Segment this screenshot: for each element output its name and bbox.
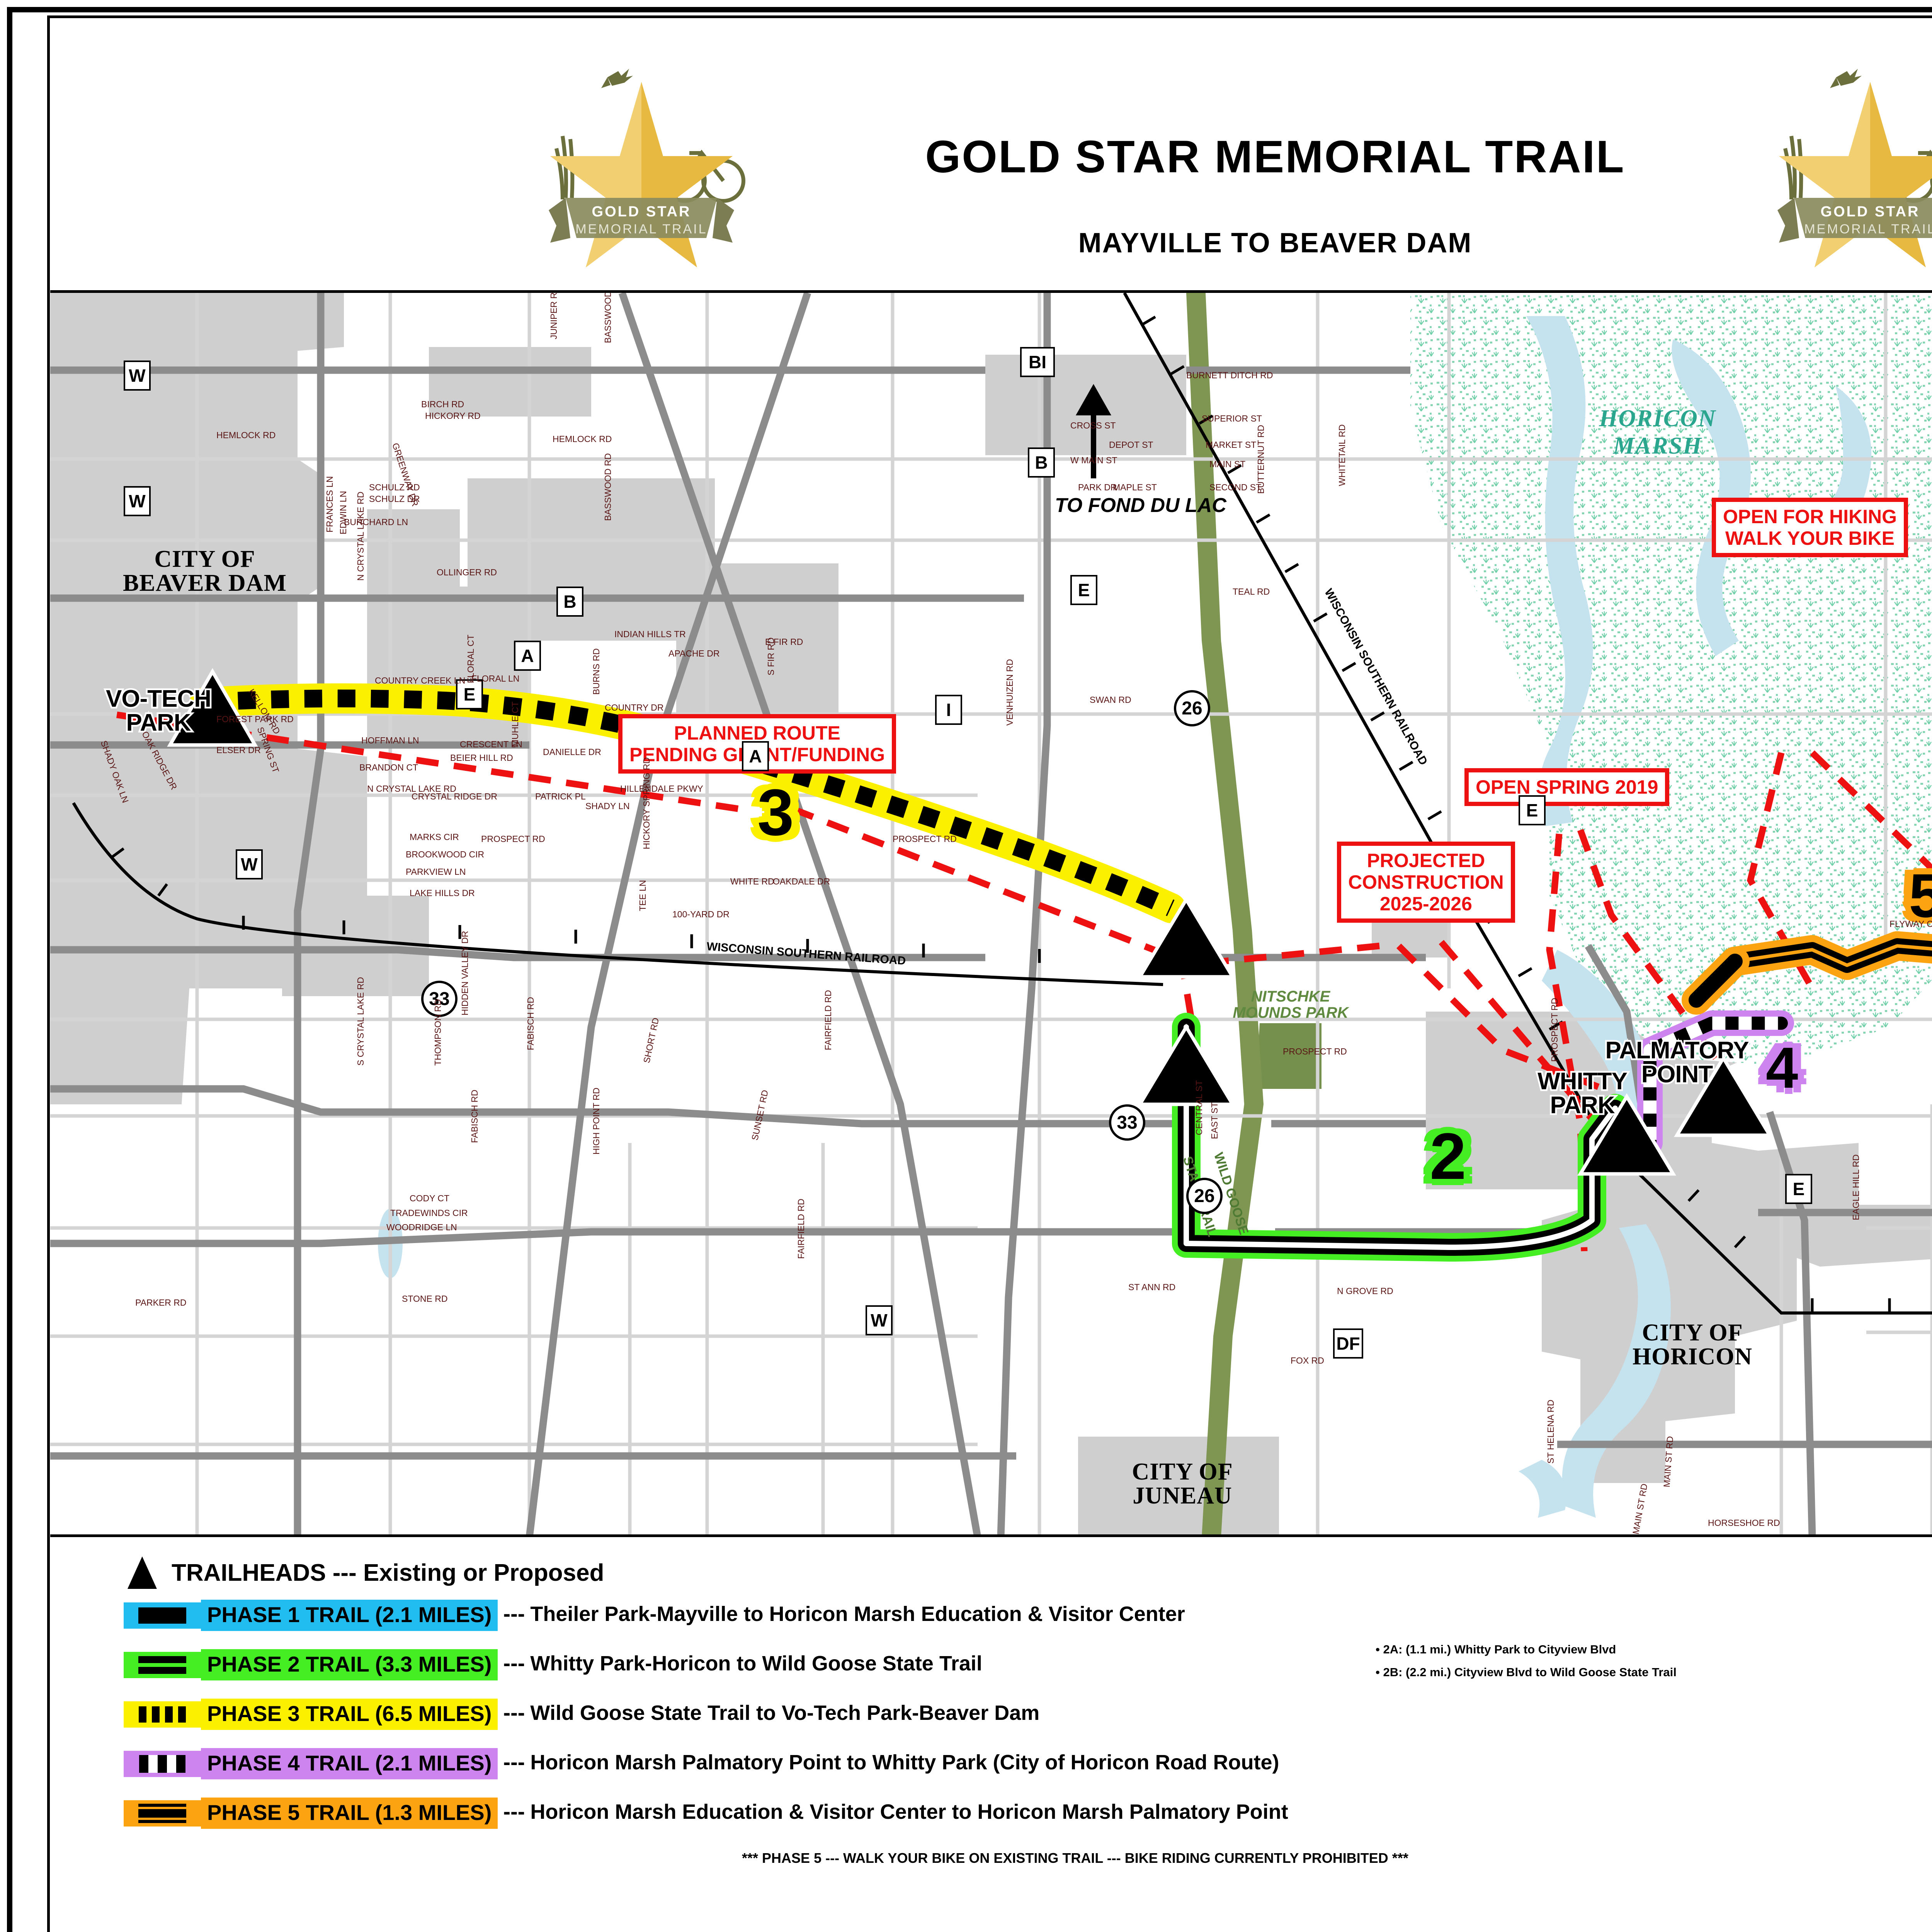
legend-dash-3: --- [498,1700,530,1729]
legend-dash-1: --- [498,1601,530,1630]
road-label-hemlock-rd-west: HEMLOCK RD [216,430,276,440]
county-shield-w-2: W [124,486,151,516]
road-label-hoffman-ln: HOFFMAN LN [361,735,419,746]
county-shield-i: I [935,695,962,725]
road-label-patrick-pl: PATRICK PL [535,791,586,802]
road-label-maple-st: MAPLE ST [1113,482,1157,493]
legend-chip-phase-4: PHASE 4 TRAIL (2.1 MILES) [201,1748,498,1779]
legend-chip-phase-3: PHASE 3 TRAIL (6.5 MILES) [201,1699,498,1730]
road-label-depot-st: DEPOT ST [1109,440,1153,450]
legend-swatch-phase-2 [124,1652,201,1678]
road-label-birch-rd: BIRCH RD [421,399,464,410]
road-label-edwin-ln: EDWIN LN [338,491,349,534]
svg-text:GOLD STAR: GOLD STAR [1821,204,1920,220]
legend-desc-phase-1: Theiler Park-Mayville to Horicon Marsh E… [530,1602,1185,1629]
road-label-s-fir-rd: S FIR RD [766,638,776,675]
road-label-schulz-dr: SCHULZ DR [369,494,420,504]
county-shield-e-3: E [1519,795,1546,825]
road-label-prospect-rd-2: PROSPECT RD [893,834,957,844]
legend-swatch-phase-1 [124,1602,201,1629]
page-title: GOLD STAR MEMORIAL TRAIL [50,131,1932,183]
road-label-hillendale-pkwy: HILLENDALE PKWY [620,784,703,794]
highway-shield-26-north: 26 [1174,690,1210,726]
road-label-fabisch-rd-1: FABISCH RD [526,997,536,1050]
legend-chip-phase-2: PHASE 2 TRAIL (3.3 MILES) [201,1649,498,1680]
road-label-fox-rd: FOX RD [1291,1355,1324,1366]
city-polygon-juneau [1078,1437,1279,1537]
road-label-burnett-ditch-rd: BURNETT DITCH RD [1186,370,1273,381]
map-header: GOLD STAR MEMORIAL TRAIL MAYVILLE TO BEA… [50,19,1932,293]
road-label-fabisch-rd-2: FABISCH RD [469,1090,480,1143]
legend-swatch-phase-4 [124,1751,201,1777]
road-label-burns-rd: BURNS RD [591,648,602,695]
phase-number-4: 4 [1766,1039,1798,1097]
road-label-hickory-rd: HICKORY RD [425,411,481,421]
road-label-fairfield-rd-1: FAIRFIELD RD [823,990,833,1050]
road-label-schulz-rd: SCHULZ RD [369,482,420,493]
road-label-butternut-rd: BUTTERNUT RD [1256,425,1266,494]
callout-open-for-hiking: OPEN FOR HIKING WALK YOUR BIKE [1712,498,1908,557]
svg-text:GOLD STAR: GOLD STAR [592,204,691,220]
road-label-prospect-rd-3: PROSPECT RD [1283,1046,1347,1057]
road-label-market-st: MARKET ST [1206,440,1256,450]
phase-number-2: 2 [1430,1124,1466,1189]
road-label-floral-ln: FLORAL LN [471,673,519,684]
gold-star-logo-left: GOLD STAR MEMORIAL TRAIL [533,65,750,274]
road-label-n-grove-rd: N GROVE RD [1337,1286,1393,1296]
road-label-st-helena-rd: ST HELENA RD [1546,1400,1556,1464]
direction-label-fond-du-lac: TO FOND DU LAC [1055,494,1226,517]
road-label-w-main-st: W MAIN ST [1070,455,1117,466]
svg-text:MEMORIAL TRAIL: MEMORIAL TRAIL [1804,222,1932,236]
road-label-brandon-ct: BRANDON CT [359,762,418,773]
trailhead-triangle-icon [128,1556,157,1589]
road-label-eagle-hill-rd: EAGLE HILL RD [1851,1155,1861,1220]
legend-desc-phase-3: Wild Goose State Trail to Vo-Tech Park-B… [530,1701,1039,1728]
gold-star-logo-right: GOLD STAR MEMORIAL TRAIL [1762,65,1932,274]
county-shield-bi: BI [1020,347,1055,377]
legend-row-phase-4[interactable]: PHASE 4 TRAIL (2.1 MILES) --- Horicon Ma… [124,1748,1279,1779]
road-label-parker-rd: PARKER RD [135,1298,187,1308]
road-label-second-st: SECOND ST [1209,482,1261,493]
road-label-hickory-spring-rd: HICKORY SPRING RD [641,757,652,849]
road-label-st-ann-rd: ST ANN RD [1128,1282,1175,1293]
legend-chip-phase-1: PHASE 1 TRAIL (2.1 MILES) [201,1600,498,1631]
legend-row-phase-1[interactable]: PHASE 1 TRAIL (2.1 MILES) --- Theiler Pa… [124,1600,1185,1631]
road-label-marks-cir: MARKS CIR [410,832,459,842]
road-label-swan-rd: SWAN RD [1090,695,1131,705]
legend-row-phase-3[interactable]: PHASE 3 TRAIL (6.5 MILES) --- Wild Goose… [124,1699,1039,1730]
map-page: GOLD STAR MEMORIAL TRAIL MAYVILLE TO BEA… [0,0,1932,1932]
road-label-basswood-rd-n: BASSWOOD RD [603,293,613,343]
road-label-basswood-rd-s: BASSWOOD RD [603,453,613,521]
road-label-country-dr: COUNTRY DR [605,702,664,713]
road-label-fairfield-rd-2: FAIRFIELD RD [796,1199,806,1259]
legend-dash-2: --- [498,1650,530,1679]
highway-shield-33-center: 33 [1109,1104,1145,1141]
road-label-n-crystal-lake-rd: N CRYSTAL LAKE RD [355,492,366,581]
highway-shield-26-south: 26 [1186,1178,1223,1214]
legend-footnote: *** PHASE 5 --- WALK YOUR BIKE ON EXISTI… [742,1850,1408,1866]
road-label-ollinger-rd: OLLINGER RD [437,567,497,578]
road-label-crystal-ridge-dr: CRYSTAL RIDGE DR [412,791,497,802]
legend-subnote-2b: 2B: (2.2 mi.) Cityview Blvd to Wild Goos… [1383,1665,1676,1679]
road-label-elser-dr: ELSER DR [216,745,261,755]
callout-open-spring-2019: OPEN SPRING 2019 [1464,768,1669,806]
phase-number-3: 3 [757,780,794,845]
road-label-flyway-clinic-dr: FLYWAY CLINIC DR [1889,919,1932,929]
legend-swatch-phase-3 [124,1701,201,1728]
road-label-horseshoe-rd: HORSESHOE RD [1708,1518,1780,1528]
svg-text:MEMORIAL TRAIL: MEMORIAL TRAIL [575,222,707,236]
map-canvas[interactable]: CITY OFMAYVILLE CITY OFBEAVER DAM CITY O… [50,293,1932,1537]
road-label-100-yard-dr: 100-YARD DR [672,909,730,920]
road-label-shady-ln: SHADY LN [585,801,630,811]
road-label-superior-st: SUPERIOR ST [1202,413,1262,424]
road-label-indian-hills-tr: INDIAN HILLS TR [614,629,686,639]
road-label-park-dr: PARK DR [1078,482,1117,493]
road-label-brookwood-cir: BROOKWOOD CIR [406,849,484,860]
legend-trailheads-row: TRAILHEADS --- Existing or Proposed [128,1556,604,1589]
road-label-whitetail-rd: WHITETAIL RD [1337,424,1347,486]
road-label-stone-rd: STONE RD [402,1294,447,1304]
county-shield-b-2: B [1028,447,1055,478]
county-shield-w-3: W [236,849,263,879]
road-label-thompson-rd: THOMPSON RD [433,999,443,1066]
legend-subnotes-phase-2: • 2A: (1.1 mi.) Whitty Park to Cityview … [1376,1638,1677,1684]
road-label-white-rd: WHITE RD [730,876,774,887]
county-shield-a-2: A [742,741,769,771]
road-label-parkview-ln: PARKVIEW LN [406,867,466,877]
legend-row-phase-2[interactable]: PHASE 2 TRAIL (3.3 MILES) --- Whitty Par… [124,1649,982,1680]
county-shield-w-4: W [866,1305,893,1335]
county-shield-e-2: E [1070,575,1097,605]
county-shield-df: DF [1333,1328,1363,1359]
road-label-lake-hills-dr: LAKE HILLS DR [410,888,475,898]
road-label-hidden-valley-dr: HIDDEN VALLEY DR [460,931,470,1015]
road-label-cody-ct: CODY CT [410,1193,449,1204]
road-label-juniper-rd: JUNIPER RD [549,293,559,339]
county-shield-a-1: A [514,641,541,671]
road-label-prospect-rd-vertical: PROSPECT RD [1549,998,1560,1062]
legend-trailheads-label: TRAILHEADS --- Existing or Proposed [172,1559,604,1587]
road-label-tee-ln: TEE LN [638,880,648,911]
road-label-east-st: EAST ST [1209,1102,1220,1139]
road-label-central-st: CENTRAL ST [1194,1080,1204,1135]
legend-desc-phase-5: Horicon Marsh Education & Visitor Center… [530,1800,1288,1827]
road-label-prospect-rd-1: PROSPECT RD [481,834,545,844]
legend-desc-phase-4: Horicon Marsh Palmatory Point to Whitty … [530,1750,1279,1777]
legend-panel: TRAILHEADS --- Existing or Proposed PHAS… [50,1537,1932,1932]
road-label-apache-dr: APACHE DR [668,648,720,659]
road-label-country-creek-ln: COUNTRY CREEK LN [375,675,465,686]
road-label-forest-park-rd: FOREST PARK RD [216,714,294,724]
legend-row-phase-5[interactable]: PHASE 5 TRAIL (1.3 MILES) --- Horicon Ma… [124,1798,1288,1829]
road-label-burchard-ln: BURCHARD LN [344,517,408,527]
road-label-floral-ct: FLORAL CT [466,634,476,683]
road-label-beier-hill-rd: BEIER HILL RD [450,753,513,763]
road-label-main-st: MAIN ST [1209,459,1245,469]
road-label-hemlock-rd-east: HEMLOCK RD [553,434,612,444]
legend-desc-phase-2: Whitty Park-Horicon to Wild Goose State … [530,1651,982,1679]
road-label-danielle-dr: DANIELLE DR [543,747,601,757]
callout-projected-construction: PROJECTED CONSTRUCTION 2025-2026 [1337,842,1515,923]
page-subtitle: MAYVILLE TO BEAVER DAM [50,227,1932,259]
road-label-s-crystal-lake-rd: S CRYSTAL LAKE RD [355,977,366,1066]
road-label-cross-st: CROSS ST [1070,420,1116,431]
legend-chip-phase-5: PHASE 5 TRAIL (1.3 MILES) [201,1798,498,1829]
legend-dash-5: --- [498,1799,530,1828]
county-shield-w-1: W [124,361,151,391]
road-label-muhle-ct: MUHLE CT [510,701,520,747]
county-shield-b-1: B [556,587,583,617]
legend-dash-4: --- [498,1749,530,1778]
legend-subnote-2a: 2A: (1.1 mi.) Whitty Park to Cityview Bl… [1383,1643,1616,1656]
road-label-oakdale-dr: OAKDALE DR [773,876,830,887]
road-label-tradewinds-cir: TRADEWINDS CIR [390,1208,468,1218]
road-label-woodridge-ln: WOODRIDGE LN [386,1222,457,1233]
road-label-frances-ln: FRANCES LN [325,476,335,532]
county-shield-e-4: E [1785,1174,1812,1204]
road-label-venhuizen-rd: VENHUIZEN RD [1005,659,1015,726]
road-label-teal-rd: TEAL RD [1233,587,1270,597]
legend-swatch-phase-5 [124,1800,201,1827]
road-label-high-point-rd: HIGH POINT RD [591,1088,602,1155]
phase-number-5: 5 [1909,865,1932,927]
